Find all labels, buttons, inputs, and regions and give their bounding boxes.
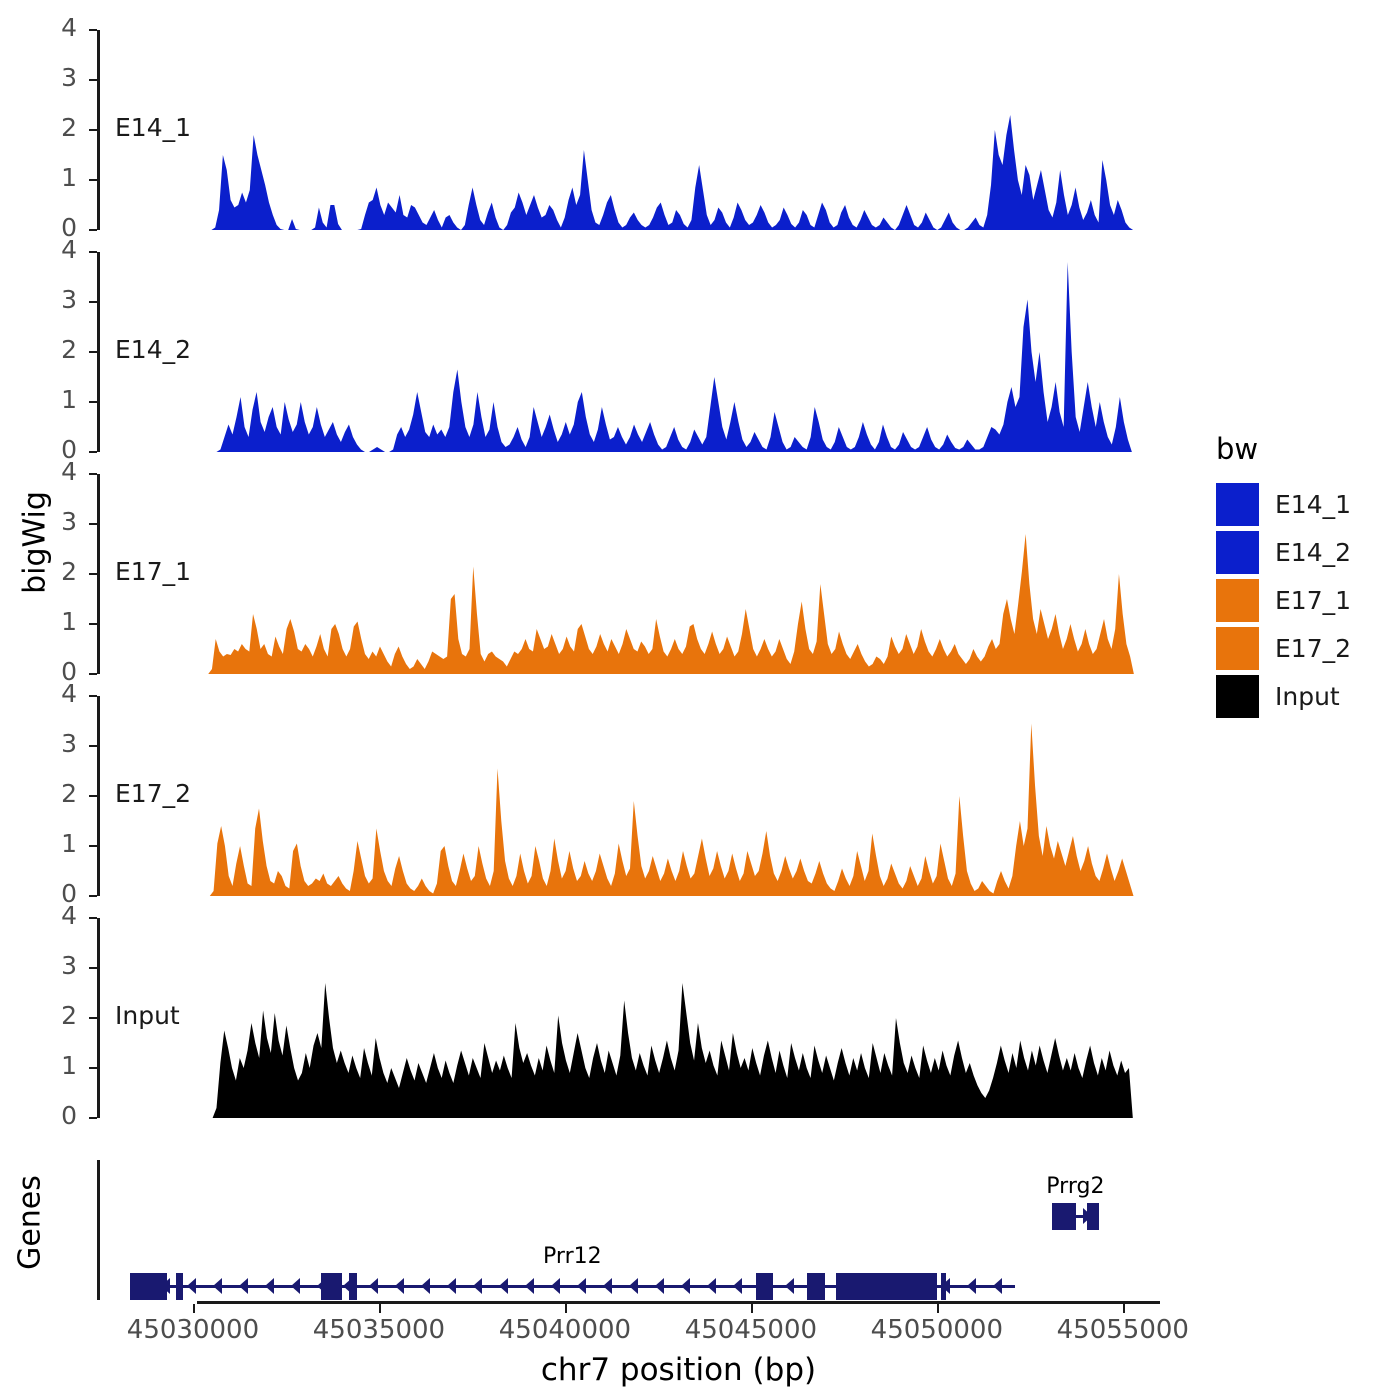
legend-label: Input xyxy=(1275,682,1340,711)
legend-item-e14_1[interactable]: E14_1 xyxy=(1216,480,1351,528)
gene-strand-arrow xyxy=(525,1278,534,1294)
x-tick-label: 45045000 xyxy=(661,1315,841,1345)
gene-strand-arrow xyxy=(421,1278,430,1294)
gene-strand-arrow xyxy=(577,1278,586,1294)
y-tick xyxy=(89,301,97,303)
legend-color-swatch xyxy=(1216,579,1259,622)
x-tick xyxy=(937,1304,939,1313)
y-tick xyxy=(89,129,97,131)
legend-label: E14_1 xyxy=(1275,490,1351,519)
y-tick-label: 2 xyxy=(17,1001,77,1030)
gene-strand-arrow xyxy=(629,1278,638,1294)
y-tick-label: 4 xyxy=(17,901,77,930)
legend-label: E17_1 xyxy=(1275,586,1351,615)
legend: bw E14_1E14_2E17_1E17_2Input xyxy=(1216,432,1351,720)
track-area-e14_2 xyxy=(100,252,1160,452)
y-axis-label: bigWig xyxy=(18,473,53,613)
gene-strand-arrow xyxy=(681,1278,690,1294)
x-axis-title: chr7 position (bp) xyxy=(197,1352,1160,1388)
gene-strand-arrow xyxy=(213,1278,222,1294)
track-panel-e17_1: 01234E17_1 xyxy=(97,474,1160,674)
y-tick-label: 4 xyxy=(17,679,77,708)
gene-strand-arrow xyxy=(473,1278,482,1294)
gene-strand-arrow xyxy=(655,1278,664,1294)
legend-item-e17_2[interactable]: E17_2 xyxy=(1216,624,1351,672)
gene-strand-arrow xyxy=(499,1278,508,1294)
track-area-e17_2 xyxy=(100,696,1160,896)
gene-exon xyxy=(130,1273,167,1300)
y-tick-label: 1 xyxy=(17,607,77,636)
y-tick xyxy=(89,1067,97,1069)
track-label-e14_2: E14_2 xyxy=(115,335,191,364)
gene-strand-arrow xyxy=(187,1278,196,1294)
legend-item-input[interactable]: Input xyxy=(1216,672,1351,720)
gene-exon xyxy=(836,1273,936,1300)
genes-axis-label: Genes xyxy=(13,1153,48,1293)
track-area-input xyxy=(100,918,1160,1118)
gene-exon xyxy=(1052,1203,1076,1230)
track-label-e17_2: E17_2 xyxy=(115,779,191,808)
y-tick xyxy=(89,229,97,231)
gene-exon xyxy=(321,1273,341,1300)
y-tick xyxy=(89,79,97,81)
y-tick xyxy=(89,845,97,847)
gene-strand-arrow xyxy=(733,1278,742,1294)
legend-items: E14_1E14_2E17_1E17_2Input xyxy=(1216,480,1351,720)
x-tick xyxy=(193,1304,195,1313)
x-tick-label: 45035000 xyxy=(289,1315,469,1345)
y-tick-label: 1 xyxy=(17,829,77,858)
y-tick xyxy=(89,29,97,31)
gene-label: Prrg2 xyxy=(985,1174,1165,1199)
y-tick-label: 1 xyxy=(17,163,77,192)
x-tick-label: 45030000 xyxy=(103,1315,283,1345)
track-label-e17_1: E17_1 xyxy=(115,557,191,586)
gene-exon xyxy=(941,1273,947,1300)
y-tick xyxy=(89,451,97,453)
x-axis-line xyxy=(197,1301,1160,1304)
legend-item-e17_1[interactable]: E17_1 xyxy=(1216,576,1351,624)
y-tick-label: 4 xyxy=(17,13,77,42)
x-tick-label: 45040000 xyxy=(475,1315,655,1345)
track-panel-e14_2: 01234E14_2 xyxy=(97,252,1160,452)
y-tick-label: 3 xyxy=(17,729,77,758)
y-tick xyxy=(89,1117,97,1119)
y-tick-label: 3 xyxy=(17,285,77,314)
legend-color-swatch xyxy=(1216,627,1259,670)
gene-exon xyxy=(349,1273,356,1300)
y-tick xyxy=(89,401,97,403)
gene-label: Prr12 xyxy=(482,1244,662,1269)
gene-strand-arrow xyxy=(239,1278,248,1294)
track-panel-input: 01234Input xyxy=(97,918,1160,1118)
y-tick-label: 1 xyxy=(17,1051,77,1080)
y-tick-label: 4 xyxy=(17,235,77,264)
track-area-e17_1 xyxy=(100,474,1160,674)
gene-strand-arrow xyxy=(967,1278,976,1294)
y-tick-label: 1 xyxy=(17,385,77,414)
gene-strand-arrow xyxy=(447,1278,456,1294)
y-tick xyxy=(89,673,97,675)
y-tick xyxy=(89,523,97,525)
y-tick-label: 2 xyxy=(17,335,77,364)
genes-axis-line xyxy=(97,1160,100,1300)
x-tick xyxy=(565,1304,567,1313)
gene-strand-arrow xyxy=(707,1278,716,1294)
x-tick xyxy=(379,1304,381,1313)
gene-strand-arrow xyxy=(785,1278,794,1294)
legend-label: E14_2 xyxy=(1275,538,1351,567)
legend-label: E17_2 xyxy=(1275,634,1351,663)
gene-exon xyxy=(756,1273,773,1300)
y-tick-label: 0 xyxy=(17,1101,77,1130)
y-tick xyxy=(89,745,97,747)
y-tick xyxy=(89,251,97,253)
y-tick xyxy=(89,795,97,797)
gene-exon xyxy=(1087,1203,1098,1230)
legend-color-swatch xyxy=(1216,483,1259,526)
legend-title: bw xyxy=(1216,432,1351,466)
gene-exon xyxy=(807,1273,826,1300)
y-tick xyxy=(89,895,97,897)
y-tick xyxy=(89,623,97,625)
legend-color-swatch xyxy=(1216,531,1259,574)
track-label-e14_1: E14_1 xyxy=(115,113,191,142)
track-label-input: Input xyxy=(115,1001,180,1030)
legend-item-e14_2[interactable]: E14_2 xyxy=(1216,528,1351,576)
track-panel-e17_2: 01234E17_2 xyxy=(97,696,1160,896)
y-tick-label: 3 xyxy=(17,63,77,92)
y-tick xyxy=(89,573,97,575)
track-panel-e14_1: 01234E14_1 xyxy=(97,30,1160,230)
y-tick-label: 2 xyxy=(17,779,77,808)
gene-strand-arrow xyxy=(603,1278,612,1294)
y-tick-label: 3 xyxy=(17,507,77,536)
y-tick xyxy=(89,917,97,919)
legend-color-swatch xyxy=(1216,675,1259,718)
gene-strand-arrow xyxy=(551,1278,560,1294)
y-tick-label: 3 xyxy=(17,951,77,980)
y-tick-label: 2 xyxy=(17,557,77,586)
y-tick xyxy=(89,1017,97,1019)
x-tick-label: 45055000 xyxy=(1033,1315,1213,1345)
y-tick xyxy=(89,967,97,969)
y-tick xyxy=(89,351,97,353)
y-tick-label: 4 xyxy=(17,457,77,486)
y-tick xyxy=(89,179,97,181)
y-tick-label: 2 xyxy=(17,113,77,142)
gene-strand-arrow xyxy=(369,1278,378,1294)
y-tick xyxy=(89,695,97,697)
gene-strand-arrow xyxy=(291,1278,300,1294)
x-tick-label: 45050000 xyxy=(847,1315,1027,1345)
x-tick xyxy=(1123,1304,1125,1313)
gene-strand-arrow xyxy=(993,1278,1002,1294)
gene-strand-arrow xyxy=(395,1278,404,1294)
gene-strand-arrow xyxy=(265,1278,274,1294)
track-area-e14_1 xyxy=(100,30,1160,230)
x-tick xyxy=(751,1304,753,1313)
gene-exon xyxy=(176,1273,183,1300)
y-tick xyxy=(89,473,97,475)
